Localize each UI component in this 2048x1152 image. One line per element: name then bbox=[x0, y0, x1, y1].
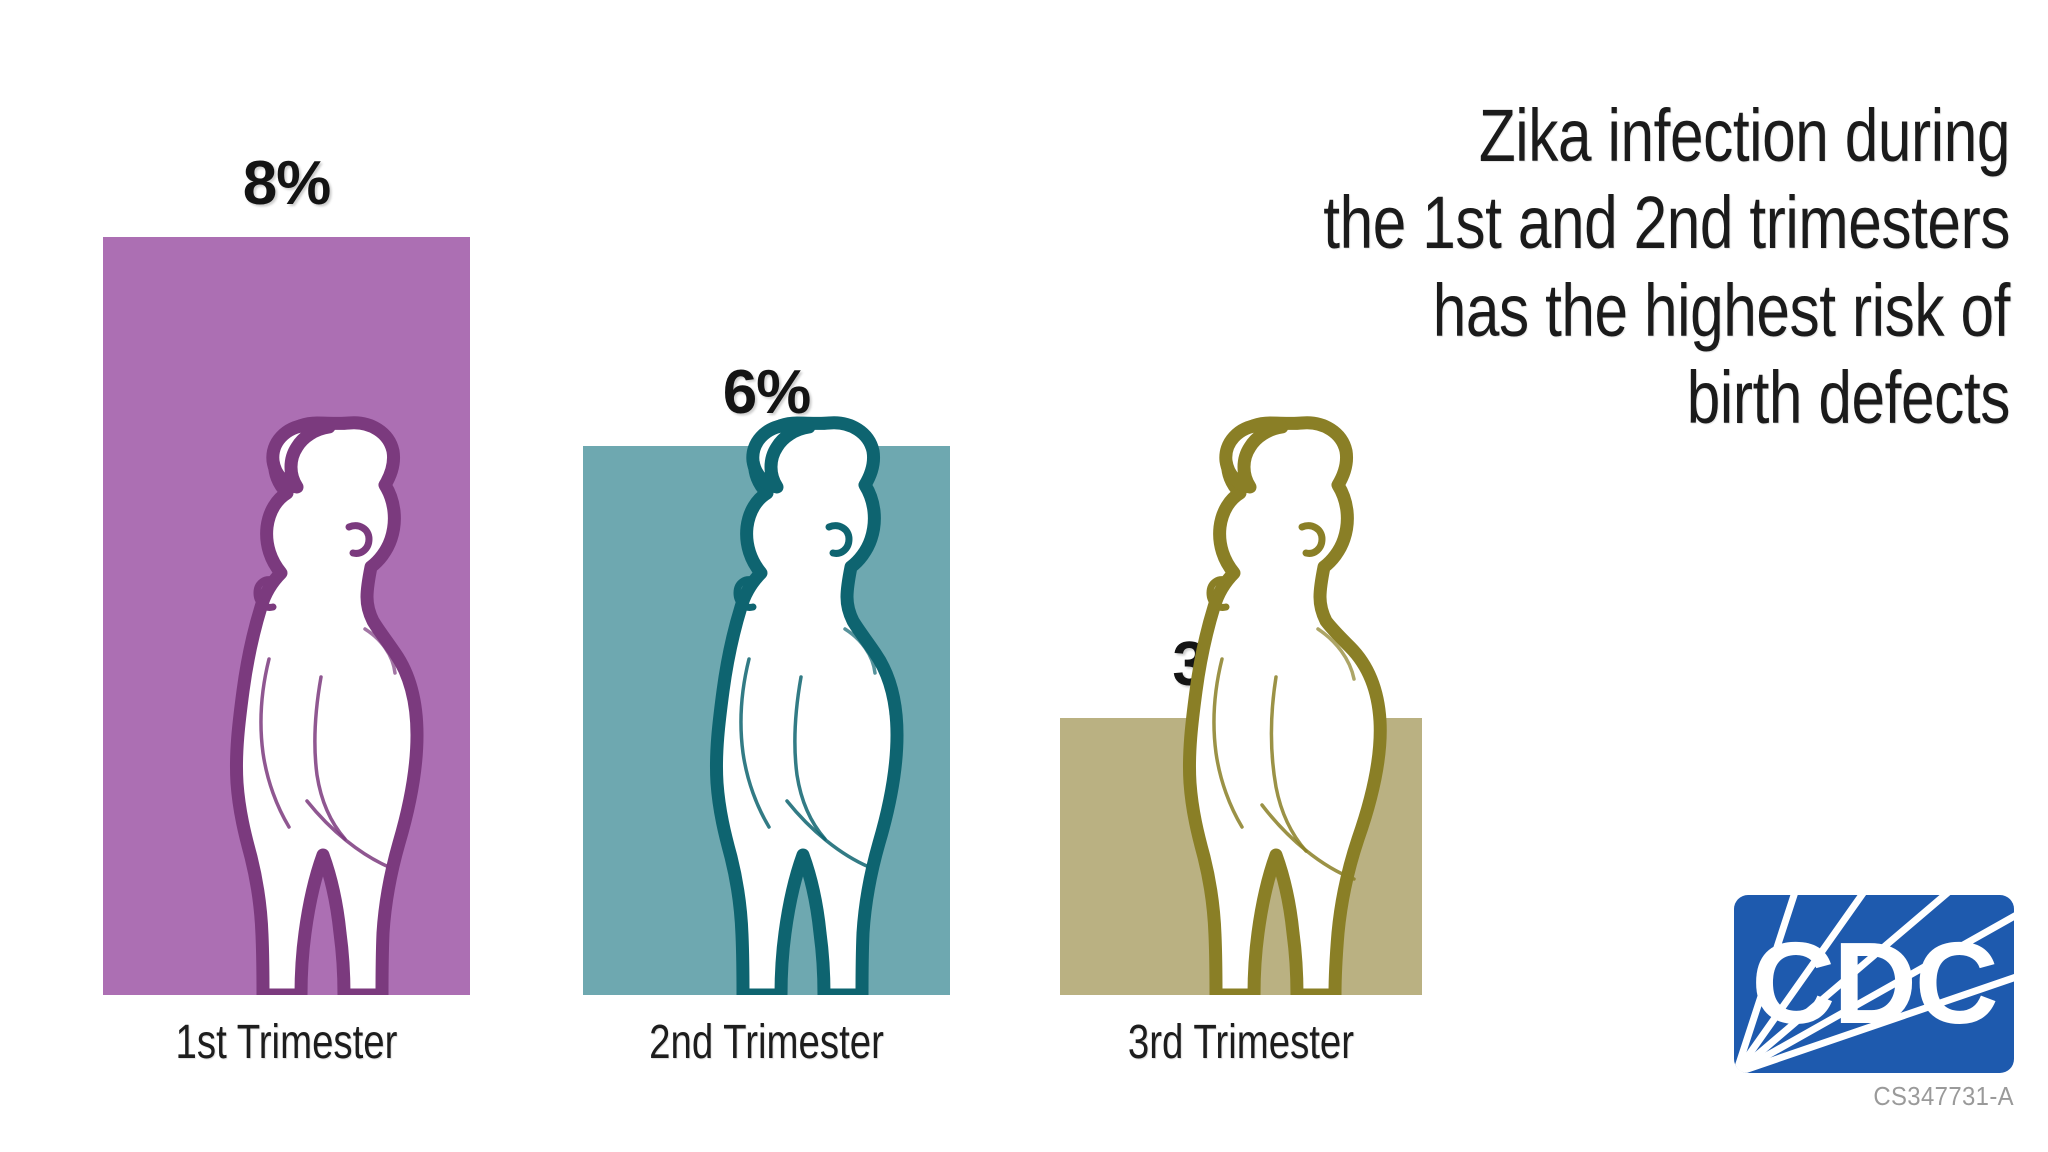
headline-line-3: has the highest risk of bbox=[1195, 267, 2010, 354]
bar-category-label-1: 1st Trimester bbox=[84, 1015, 490, 1070]
bar-category-label-2: 2nd Trimester bbox=[564, 1015, 970, 1070]
bar-group-1st-trimester: 8% bbox=[103, 237, 470, 995]
headline-line-4: birth defects bbox=[1195, 354, 2010, 441]
branding-block: CDC CS347731-A bbox=[1724, 895, 2014, 1112]
zika-trimester-infographic: 8% bbox=[0, 0, 2048, 1152]
headline-line-1: Zika infection during bbox=[1195, 92, 2010, 179]
headline-line-2: the 1st and 2nd trimesters bbox=[1195, 179, 2010, 266]
bar-rect-2 bbox=[583, 446, 950, 995]
bar-value-label-2: 6% bbox=[583, 362, 950, 424]
publication-id: CS347731-A bbox=[1747, 1081, 2014, 1112]
bar-group-3rd-trimester: 3.8% 3rd Trimest bbox=[1060, 718, 1422, 995]
bar-value-label-1: 8% bbox=[103, 153, 470, 215]
bar-group-2nd-trimester: 6% 2nd Trimester bbox=[583, 446, 950, 995]
headline: Zika infection during the 1st and 2nd tr… bbox=[1010, 92, 2010, 441]
bar-value-label-3: 3.8% bbox=[1060, 634, 1422, 696]
bar-rect-3 bbox=[1060, 718, 1422, 995]
bar-category-label-3: 3rd Trimester bbox=[1040, 1015, 1442, 1070]
bar-rect-1 bbox=[103, 237, 470, 995]
cdc-logo: CDC bbox=[1734, 895, 2014, 1073]
cdc-logo-text: CDC bbox=[1751, 918, 1996, 1048]
